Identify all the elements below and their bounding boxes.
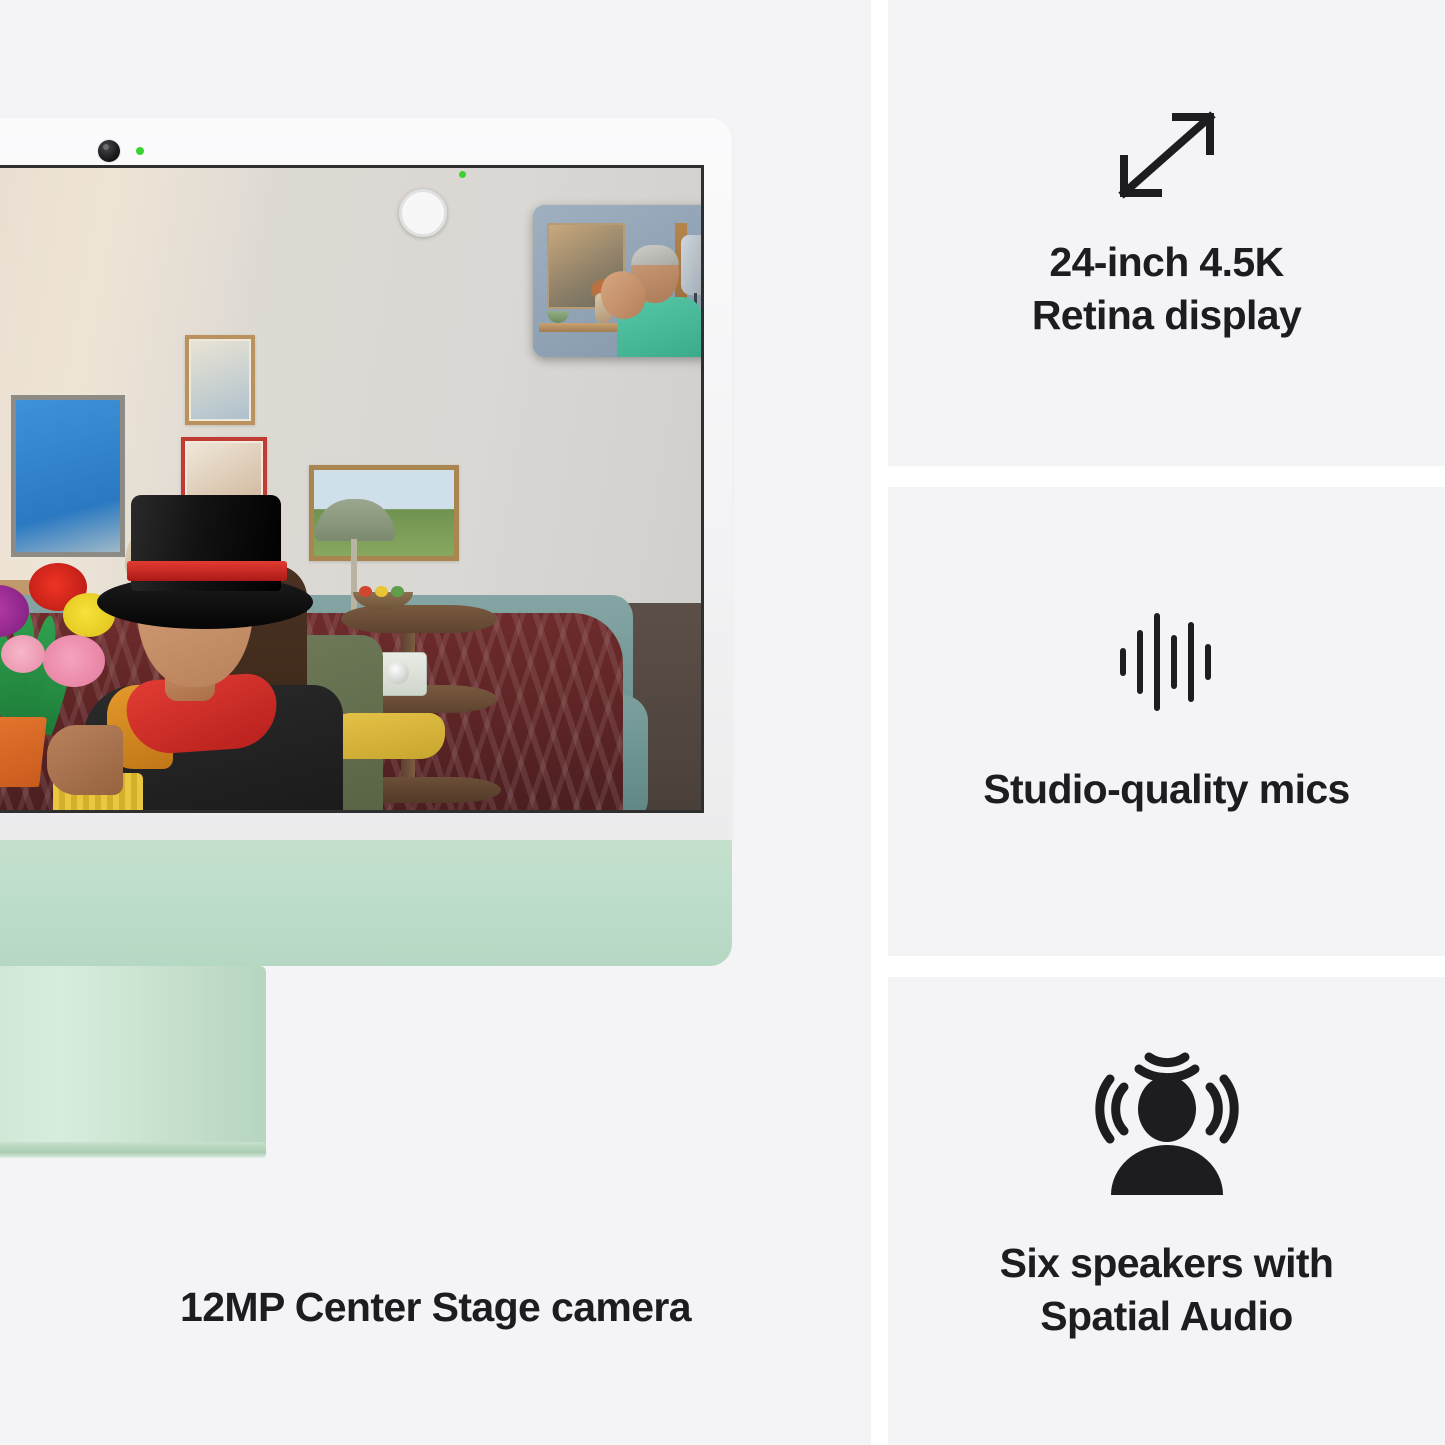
screen-recording-led: [459, 171, 466, 178]
scene-side-table-top: [341, 605, 497, 633]
feature-panel-mics: Studio-quality mics: [888, 487, 1445, 956]
scene-flower: [43, 635, 105, 687]
facetime-video-scene: [0, 165, 704, 813]
feature-panel-camera: 12MP Center Stage camera: [0, 0, 871, 1445]
scene-flower-pot: [0, 717, 47, 787]
scene-blue-artwork: [11, 395, 125, 557]
feature-panel-display: 24-inch 4.5K Retina display: [888, 0, 1445, 466]
scene-flower: [1, 635, 45, 673]
camera-indicator-led: [136, 147, 144, 155]
scene-prop-bananas: [325, 713, 445, 759]
pip-lamp: [681, 235, 704, 295]
imac-device: [0, 118, 732, 968]
scene-fruit: [375, 586, 388, 597]
scene-fruit: [359, 586, 372, 597]
scene-picture-frame: [185, 335, 255, 425]
imac-chin: [0, 840, 732, 966]
facetime-pip-window[interactable]: [533, 205, 704, 357]
spatial-audio-person-icon: [1087, 1035, 1247, 1205]
display-feature-label: 24-inch 4.5K Retina display: [1032, 236, 1301, 343]
audio-waveform-icon: [1117, 602, 1217, 727]
page-root: 12MP Center Stage camera 24-inch 4.5K Re…: [0, 0, 1445, 1445]
speakers-feature-label: Six speakers with Spatial Audio: [1000, 1237, 1334, 1344]
scene-top-hat-band: [127, 561, 287, 581]
mics-feature-label: Studio-quality mics: [983, 763, 1349, 816]
imac-stand: [0, 966, 266, 1166]
imac-screen: [0, 165, 704, 813]
scene-radio-dial: [387, 662, 409, 684]
camera-feature-label: 12MP Center Stage camera: [0, 1281, 871, 1334]
camera-lens-icon: [98, 140, 120, 162]
scene-fruit: [391, 586, 404, 597]
diagonal-arrows-icon: [1102, 95, 1232, 220]
imac-stand-neck: [0, 966, 266, 1146]
feature-panel-speakers: Six speakers with Spatial Audio: [888, 977, 1445, 1445]
scene-person-girl-arm: [47, 725, 123, 795]
imac-stand-foot: [0, 1142, 266, 1158]
facetime-control-button[interactable]: [399, 189, 447, 237]
